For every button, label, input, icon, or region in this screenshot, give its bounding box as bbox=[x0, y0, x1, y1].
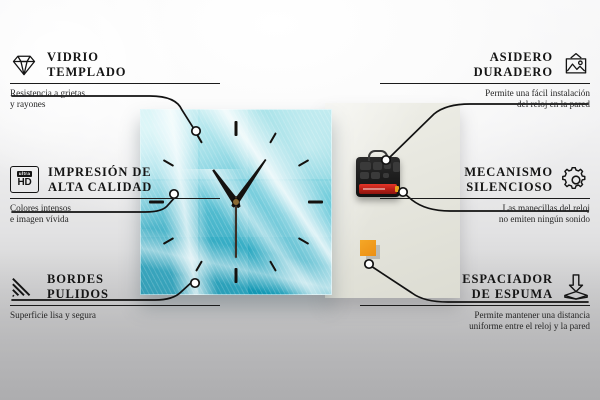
feature-title: BORDES PULIDOS bbox=[47, 272, 109, 301]
hour-marker-11 bbox=[195, 132, 203, 143]
feature-vidrio-templado[interactable]: VIDRIO TEMPLADO Resistencia a grietas y … bbox=[10, 50, 220, 110]
ultra-hd-icon: ultra HD bbox=[10, 166, 39, 193]
hour-marker-2 bbox=[298, 159, 309, 167]
divider bbox=[10, 198, 220, 199]
feature-title: IMPRESIÓN DE ALTA CALIDAD bbox=[48, 165, 152, 194]
feature-desc: Resistencia a grietas y rayones bbox=[10, 88, 220, 110]
feature-title: MECANISMO SILENCIOSO bbox=[464, 165, 553, 194]
hour-marker-1 bbox=[269, 132, 277, 143]
feature-mecanismo-silencioso[interactable]: MECANISMO SILENCIOSO Las manecillas del … bbox=[380, 165, 590, 225]
feature-bordes-pulidos[interactable]: BORDES PULIDOS Superficie lisa y segura bbox=[10, 272, 220, 321]
gear-icon bbox=[562, 167, 590, 193]
feature-impresion-alta-calidad[interactable]: ultra HD IMPRESIÓN DE ALTA CALIDAD Color… bbox=[10, 165, 220, 225]
hour-marker-8 bbox=[163, 237, 174, 245]
hour-marker-12 bbox=[235, 121, 238, 136]
divider bbox=[10, 83, 220, 84]
divider bbox=[360, 305, 590, 306]
hanger-hook-icon bbox=[368, 150, 388, 161]
infographic-canvas: VIDRIO TEMPLADO Resistencia a grietas y … bbox=[0, 0, 600, 400]
feature-espaciador-espuma[interactable]: ESPACIADOR DE ESPUMA Permite mantener un… bbox=[360, 272, 590, 332]
picture-hanger-icon bbox=[562, 52, 590, 78]
divider bbox=[380, 198, 590, 199]
feature-desc: Las manecillas del reloj no emiten ningú… bbox=[380, 203, 590, 225]
feature-title: VIDRIO TEMPLADO bbox=[47, 50, 126, 79]
feature-desc: Colores intensos e imagen vívida bbox=[10, 203, 220, 225]
feature-title: ASIDERO DURADERO bbox=[474, 50, 553, 79]
second-hand bbox=[235, 196, 237, 258]
feature-asidero-duradero[interactable]: ASIDERO DURADERO Permite una fácil insta… bbox=[380, 50, 590, 110]
hour-marker-3 bbox=[308, 201, 323, 204]
hour-marker-7 bbox=[195, 260, 203, 271]
feature-desc: Permite mantener una distancia uniforme … bbox=[360, 310, 590, 332]
foam-spacer-sample bbox=[360, 240, 376, 256]
feature-desc: Permite una fácil instalación del reloj … bbox=[380, 88, 590, 110]
foam-spacer-icon bbox=[562, 274, 590, 300]
polished-edges-icon bbox=[10, 274, 38, 300]
feature-title: ESPACIADOR DE ESPUMA bbox=[462, 272, 553, 301]
hour-marker-5 bbox=[269, 260, 277, 271]
hour-marker-6 bbox=[235, 268, 238, 283]
ultra-hd-large-label: HD bbox=[17, 178, 31, 188]
hour-marker-4 bbox=[298, 237, 309, 245]
feature-desc: Superficie lisa y segura bbox=[10, 310, 220, 321]
divider bbox=[380, 83, 590, 84]
divider bbox=[10, 305, 220, 306]
diamond-icon bbox=[10, 52, 38, 78]
clock-center-pivot bbox=[233, 199, 239, 205]
